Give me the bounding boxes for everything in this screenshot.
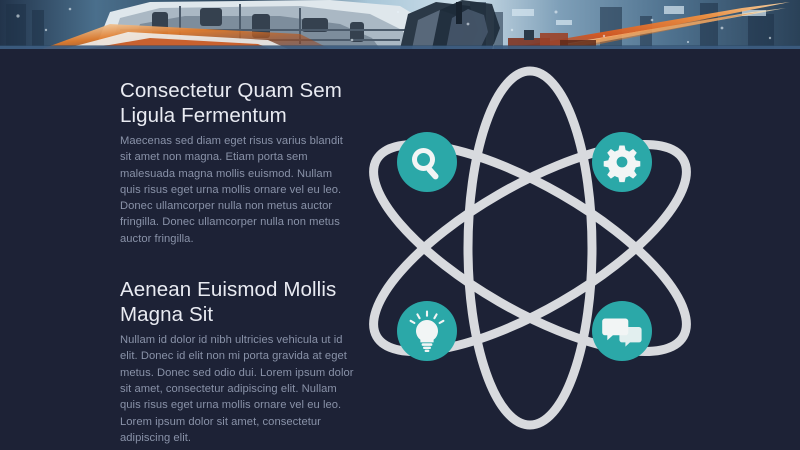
node-idea[interactable]	[397, 301, 457, 361]
node-chat[interactable]	[592, 301, 652, 361]
heading-2: Aenean Euismod Mollis Magna Sit	[120, 277, 355, 327]
content-block-2: Aenean Euismod Mollis Magna Sit Nullam i…	[120, 277, 355, 446]
banner-bottom-edge	[0, 46, 800, 49]
node-search[interactable]	[397, 132, 457, 192]
orbit-paths	[360, 71, 700, 425]
hero-banner-art	[0, 0, 800, 49]
node-search-circle[interactable]	[397, 132, 457, 192]
text-column: Consectetur Quam Sem Ligula Fermentum Ma…	[120, 78, 355, 446]
hero-banner-image	[0, 0, 800, 49]
orbit-ellipse-vertical	[468, 71, 592, 425]
node-settings[interactable]	[592, 132, 652, 192]
slide-root: Consectetur Quam Sem Ligula Fermentum Ma…	[0, 0, 800, 450]
paragraph-2: Nullam id dolor id nibh ultricies vehicu…	[120, 332, 355, 446]
paragraph-1: Maecenas sed diam eget risus varius blan…	[120, 133, 355, 247]
node-settings-circle[interactable]	[592, 132, 652, 192]
content-block-1: Consectetur Quam Sem Ligula Fermentum Ma…	[120, 78, 355, 247]
atom-svg	[360, 58, 700, 438]
atom-orbit-diagram	[360, 58, 700, 438]
heading-1: Consectetur Quam Sem Ligula Fermentum	[120, 78, 355, 128]
